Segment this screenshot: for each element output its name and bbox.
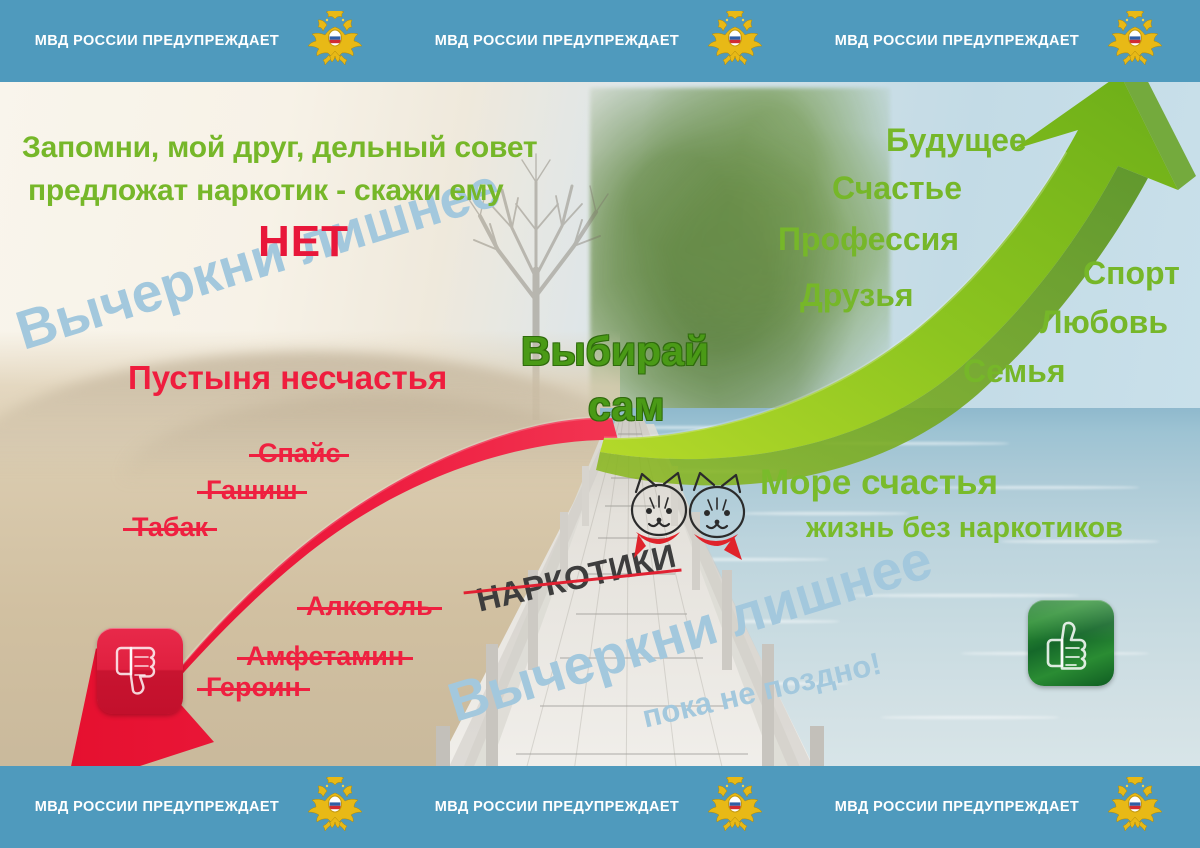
thumbs-down-badge[interactable] [97,628,183,714]
thumbs-up-badge[interactable] [1028,600,1114,686]
good-path-subtitle: жизнь без наркотиков [806,512,1123,545]
thumbs-down-icon [97,628,183,714]
bad-substance-item: Амфетамин [246,641,404,672]
strikethrough-line [123,528,217,530]
bad-substance-label: Гашиш [206,475,298,505]
bad-substance-item: Табак [132,512,208,543]
band-cell: МВД РОССИИ ПРЕДУПРЕЖДАЕТ [400,777,800,838]
good-value-item: Профессия [778,221,959,258]
good-value-item: Семья [963,353,1066,390]
bad-path-title: Пустыня несчастья [128,359,447,397]
choose-line-1: Выбирай [521,328,709,375]
emblem-slot [305,777,365,838]
russian-double-headed-eagle-emblem [1105,777,1165,833]
bad-substance-label: Амфетамин [246,641,404,671]
strikethrough-line [249,454,349,456]
russian-double-headed-eagle-emblem [305,777,365,833]
mvd-warning-text: МВД РОССИИ ПРЕДУПРЕЖДАЕТ [435,799,679,815]
bad-substance-item: Гашиш [206,475,298,506]
mvd-warning-text: МВД РОССИИ ПРЕДУПРЕЖДАЕТ [35,799,279,815]
band-cell: МВД РОССИИ ПРЕДУПРЕЖДАЕТ [800,777,1200,838]
russian-double-headed-eagle-emblem [705,11,765,67]
choose-line-2: сам [588,383,664,430]
mvd-warning-text: МВД РОССИИ ПРЕДУПРЕЖДАЕТ [435,33,679,49]
headline-line-1: Запомни, мой друг, дельный совет [22,131,537,165]
russian-double-headed-eagle-emblem [1105,11,1165,67]
good-value-item: Спорт [1083,255,1180,292]
mvd-header-band: МВД РОССИИ ПРЕДУПРЕЖДАЕТ МВД РОССИИ ПРЕД… [0,0,1200,82]
band-cell: МВД РОССИИ ПРЕДУПРЕЖДАЕТ [400,11,800,72]
good-value-item: Любовь [1040,304,1168,341]
emblem-slot [705,777,765,838]
good-value-item: Счастье [832,170,962,207]
bad-substance-item: Спайс [258,438,340,469]
headline-answer-net: НЕТ [258,217,349,267]
good-value-item: Друзья [800,277,914,314]
strikethrough-line [297,607,442,609]
bad-substance-label: Табак [132,512,208,542]
band-cell: МВД РОССИИ ПРЕДУПРЕЖДАЕТ [0,777,400,838]
two-cats-with-scarves-icon [620,470,760,562]
band-cell: МВД РОССИИ ПРЕДУПРЕЖДАЕТ [0,11,400,72]
poster-canvas: Вычеркни лишнее Вычеркни лишнее пока не … [0,0,1200,848]
bad-substance-item: Героин [206,672,301,703]
mvd-warning-text: МВД РОССИИ ПРЕДУПРЕЖДАЕТ [35,33,279,49]
thumbs-up-icon [1028,600,1114,686]
good-path-title: Море счастья [760,463,998,503]
mvd-footer-band: МВД РОССИИ ПРЕДУПРЕЖДАЕТ МВД РОССИИ ПРЕД… [0,766,1200,848]
headline-line-2: предложат наркотик - скажи ему [28,174,503,208]
emblem-slot [1105,777,1165,838]
emblem-slot [305,11,365,72]
bad-substance-item: Алкоголь [306,591,433,622]
mvd-warning-text: МВД РОССИИ ПРЕДУПРЕЖДАЕТ [835,33,1079,49]
bad-substance-label: Героин [206,672,301,702]
strikethrough-line [197,688,310,690]
strikethrough-line [237,657,413,659]
russian-double-headed-eagle-emblem [305,11,365,67]
bad-substance-label: Алкоголь [306,591,433,621]
bad-substance-label: Спайс [258,438,340,468]
strikethrough-line [197,491,307,493]
russian-double-headed-eagle-emblem [705,777,765,833]
mvd-warning-text: МВД РОССИИ ПРЕДУПРЕЖДАЕТ [835,799,1079,815]
good-value-item: Будущее [886,122,1027,159]
emblem-slot [1105,11,1165,72]
emblem-slot [705,11,765,72]
band-cell: МВД РОССИИ ПРЕДУПРЕЖДАЕТ [800,11,1200,72]
